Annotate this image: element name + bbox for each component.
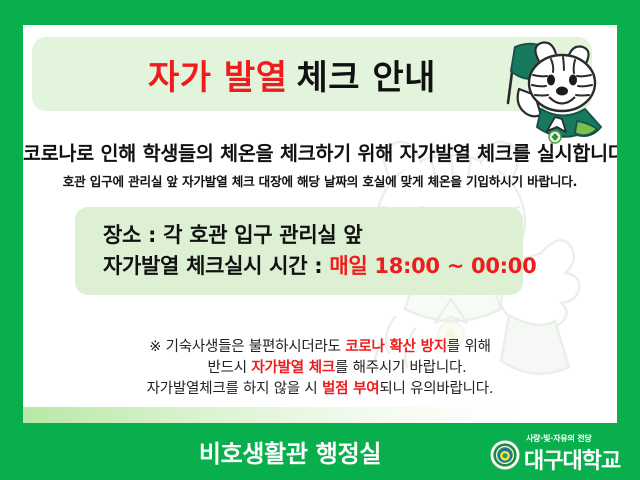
subheadline-text: 호관 입구에 관리실 앞 자가발열 체크 대장에 해당 날짜의 호실에 맞게 체… [23, 171, 617, 190]
notice-1-prefix: ※ 기숙사생들은 불편하시더라도 [149, 339, 345, 355]
info-time-label: 자가발열 체크실시 시간 : [103, 254, 329, 278]
notice-3-highlight: 벌점 부여 [322, 381, 379, 397]
content-card: 자가 발열 체크 안내 [23, 25, 617, 423]
notice-2-prefix: 반드시 [207, 360, 251, 376]
page-title: 자가 발열 체크 안내 [32, 37, 552, 111]
notice-2-suffix: 를 해주시기 바랍니다. [335, 360, 467, 376]
info-time-line: 자가발열 체크실시 시간 : 매일 18:00 ~ 00:00 [103, 251, 523, 282]
notice-line-2: 반드시 자가발열 체크를 해주시기 바랍니다. [23, 358, 617, 379]
notice-1-suffix: 를 위해 [447, 339, 491, 355]
university-name: 대구대학교 [524, 443, 620, 475]
info-location-line: 장소 : 각 호관 입구 관리실 앞 [103, 220, 523, 251]
poster-root: 자가 발열 체크 안내 [0, 0, 640, 480]
info-location-text: 장소 : 각 호관 입구 관리실 앞 [103, 223, 362, 247]
info-panel-content: 장소 : 각 호관 입구 관리실 앞 자가발열 체크실시 시간 : 매일 18:… [75, 207, 523, 295]
university-emblem-icon [490, 440, 520, 470]
title-highlight: 자가 발열 [148, 50, 287, 99]
notice-block: ※ 기숙사생들은 불편하시더라도 코로나 확산 방지를 위해 반드시 자가발열 … [23, 337, 617, 400]
headline-text: 코로나로 인해 학생들의 체온을 체크하기 위해 자가발열 체크를 실시합니다. [23, 137, 617, 166]
notice-3-suffix: 되니 유의바랍니다. [379, 381, 493, 397]
footer-bar: 비호생활관 행정실 사랑·빛·자유의 전당 대구대학교 [0, 423, 640, 480]
info-time-value: 매일 18:00 ~ 00:00 [329, 254, 536, 278]
notice-line-1: ※ 기숙사생들은 불편하시더라도 코로나 확산 방지를 위해 [23, 337, 617, 358]
notice-1-highlight: 코로나 확산 방지 [345, 339, 447, 355]
notice-2-highlight: 자가발열 체크 [251, 360, 335, 376]
title-rest: 체크 안내 [297, 50, 436, 99]
notice-3-prefix: 자가발열체크를 하지 않을 시 [147, 381, 322, 397]
notice-line-3: 자가발열체크를 하지 않을 시 벌점 부여되니 유의바랍니다. [23, 379, 617, 400]
university-logo: 사랑·빛·자유의 전당 대구대학교 [490, 432, 630, 472]
tiger-mascot-icon [493, 31, 611, 149]
bottom-gradient-strip [23, 407, 617, 423]
